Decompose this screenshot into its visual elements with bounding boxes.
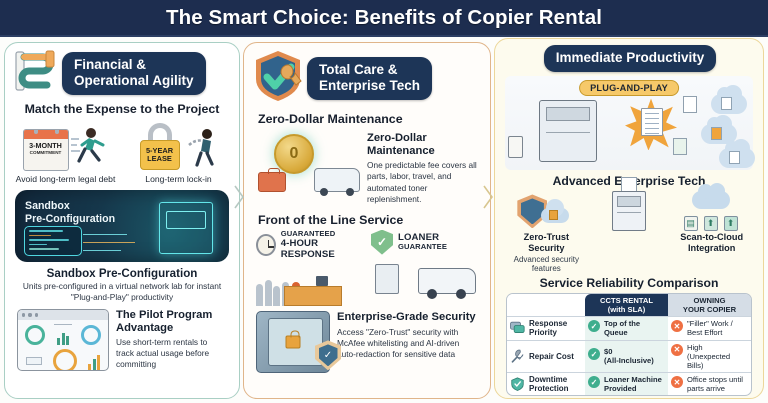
cross-icon: ✕ <box>671 376 683 388</box>
adv-sub-zero-trust: Advanced security features <box>505 255 588 274</box>
front-of-line-subhead: Front of the Line Service <box>250 213 484 227</box>
table-row: Downtime Protection ✓ Loaner Machine <box>507 372 751 395</box>
rental-sub-1: (All-Inclusive) <box>604 356 654 365</box>
mini-doc-icon <box>683 96 697 113</box>
lock-badge-line2: LEASE <box>147 155 172 163</box>
rental-sub-2: Provided <box>604 384 662 393</box>
enterprise-security-text: Enterprise-Grade Security Access "Zero-T… <box>337 311 478 359</box>
connector-arrow-1 <box>234 185 245 209</box>
running-person-icon <box>69 125 109 171</box>
code-window-icon <box>24 226 82 256</box>
delivery-truck-copier-icon <box>371 255 478 299</box>
sandbox-body: Units pre-configured in a virtual networ… <box>11 281 233 303</box>
printed-document-icon <box>641 108 663 136</box>
row-label-line1-1: Repair Cost <box>529 352 574 361</box>
enterprise-security-body: Access "Zero-Trust" security with McAfee… <box>337 327 478 360</box>
plug-and-play-scene: PLUG-AND-PLAY <box>505 76 753 170</box>
immediate-productivity-pill-row: Immediate Productivity <box>503 45 757 72</box>
comparison-title: Service Reliability Comparison <box>501 276 757 290</box>
flexible-scroll-icon <box>13 49 59 98</box>
rental-text-0: Top of the Queue <box>604 319 665 337</box>
rental-cell-2: ✓ Loaner Machine Provided <box>585 372 668 395</box>
clock-icon <box>256 234 276 256</box>
sandbox-card-line1: Sandbox <box>25 200 70 212</box>
table-header-blank <box>507 294 585 317</box>
financial-pill-row: Financial & Operational Agility <box>13 49 233 98</box>
pilot-program-body: Use short-term rentals to track actual u… <box>116 337 227 370</box>
owning-cell-2: ✕ Office stops until parts arrive <box>668 372 751 395</box>
rental-cell-1: ✓ $0 (All-Inclusive) <box>585 340 668 372</box>
compare-item-5year: 5-YEAR LEASE Long-term lock-in <box>125 119 233 184</box>
front-of-line-item-loaner: ✓ LOANER GUARANTEE <box>371 230 478 307</box>
zero-dollar-block: 0 Zero-Dollar Maintenance One predictabl… <box>250 132 484 205</box>
safe-vault-shield-icon: ✓ <box>256 311 330 373</box>
total-care-pill-row: Total Care & Enterprise Tech <box>252 49 484 108</box>
table-header-owning-line2: YOUR COPIER <box>683 305 736 314</box>
table-row: Response Priority ✓ Top of the Queue <box>507 317 751 340</box>
expense-compare-row: 3-MONTH COMMITMENT Avoid long-term legal… <box>11 119 233 184</box>
zero-dollar-subhead: Zero-Dollar Maintenance <box>250 112 484 126</box>
sandbox-card-title: Sandbox Pre-Configuration <box>25 200 115 226</box>
service-reliability-table: CCTS RENTAL (with SLA) OWNING YOUR COPIE… <box>506 293 752 396</box>
check-icon: ✓ <box>588 320 600 332</box>
shield-check-wrench-icon <box>252 49 304 108</box>
total-care-pill-line1: Total Care & <box>319 62 398 77</box>
copier-icon <box>539 100 597 162</box>
zero-dollar-title: Zero-Dollar Maintenance <box>367 132 478 158</box>
table-header-rental-line1: CCTS RENTAL <box>600 296 653 305</box>
cloud-doc-icon-1 <box>711 94 747 114</box>
sandbox-preconfig-card: Sandbox Pre-Configuration <box>15 190 229 262</box>
connector-arrow-2 <box>483 185 494 209</box>
row-label-response-priority: Response Priority <box>507 317 585 340</box>
table-header-rental: CCTS RENTAL (with SLA) <box>585 294 668 317</box>
page-title: The Smart Choice: Benefits of Copier Ren… <box>166 6 602 30</box>
table-row: Repair Cost ✓ $0 (A <box>507 340 751 372</box>
owning-text-1: High <box>687 343 703 352</box>
zero-dollar-body: One predictable fee covers all parts, la… <box>367 160 478 204</box>
enterprise-security-block: ✓ Enterprise-Grade Security Access "Zero… <box>250 311 484 373</box>
calendar-badge-line1: 3-MONTH <box>24 139 68 150</box>
owning-sub-0: Best Effort <box>687 328 722 337</box>
truck-icon <box>418 268 476 294</box>
service-desk-queue-icon <box>256 262 363 306</box>
padlock-chained-person-icon: 5-YEAR LEASE <box>125 119 233 171</box>
row-label-line2-0: Priority <box>529 328 557 337</box>
total-care-pill: Total Care & Enterprise Tech <box>307 57 432 101</box>
calendar-running-person-icon: 3-MONTH COMMITMENT <box>12 119 120 171</box>
pilot-program-title: The Pilot Program Advantage <box>116 309 227 335</box>
zero-dollar-text: Zero-Dollar Maintenance One predictable … <box>367 132 478 205</box>
mini-doc-icon-2 <box>673 138 687 155</box>
adv-item-scan-cloud: ▤ ⬆ ⬆ Scan-to-Cloud Integration <box>670 190 753 254</box>
table-header-row: CCTS RENTAL (with SLA) OWNING YOUR COPIE… <box>507 294 751 317</box>
shield-check-icon: ✓ <box>371 230 393 255</box>
service-van-icon <box>314 168 360 192</box>
mini-copier-icon <box>375 264 399 294</box>
loaner-label-small: GUARANTEE <box>398 242 447 251</box>
immediate-productivity-pill: Immediate Productivity <box>544 45 717 72</box>
cloud-doc-icon-3 <box>719 148 755 168</box>
match-expense-subhead: Match the Expense to the Project <box>11 102 233 116</box>
toolbox-icon <box>258 172 286 192</box>
owning-sub-2: parts arrive <box>687 384 725 393</box>
loaner-label: LOANER GUARANTEE <box>398 232 447 252</box>
gold-coin-toolbox-van-icon: 0 <box>256 132 360 194</box>
total-care-pill-line2: Enterprise Tech <box>319 78 420 93</box>
row-label-downtime-protection: Downtime Protection <box>507 372 585 395</box>
cross-icon: ✕ <box>671 320 683 332</box>
cross-icon: ✕ <box>671 344 683 356</box>
front-of-line-item-response: GUARANTEED 4-HOUR RESPONSE <box>256 230 363 307</box>
check-icon: ✓ <box>588 348 600 360</box>
owning-cell-1: ✕ High (Unexpected Bills) <box>668 340 751 372</box>
adv-title-zero-trust: Zero-Trust Security <box>505 232 588 253</box>
check-icon: ✓ <box>588 376 600 388</box>
shield-icon <box>510 377 525 391</box>
enterprise-security-title: Enterprise-Grade Security <box>337 311 478 324</box>
column-financial-agility: Financial & Operational Agility Match th… <box>4 42 240 399</box>
column-total-care: Total Care & Enterprise Tech Zero-Dollar… <box>243 42 491 399</box>
sandbox-title: Sandbox Pre-Configuration <box>11 267 233 280</box>
calendar-icon: 3-MONTH COMMITMENT <box>23 129 69 171</box>
financial-pill: Financial & Operational Agility <box>62 52 206 96</box>
compare-caption-3month: Avoid long-term legal debt <box>12 174 120 184</box>
power-outlet-icon <box>508 136 523 158</box>
row-label-line1-2: Downtime <box>529 375 567 384</box>
plug-and-play-badge: PLUG-AND-PLAY <box>579 80 679 96</box>
pilot-program-text: The Pilot Program Advantage Use short-te… <box>116 309 227 371</box>
financial-pill-line2: Operational Agility <box>74 73 194 88</box>
owning-sub-1: (Unexpected Bills) <box>687 352 730 370</box>
adv-title-scan-cloud: Scan-to-Cloud Integration <box>670 232 753 253</box>
owning-text-2: Office stops until <box>687 375 743 384</box>
title-banner: The Smart Choice: Benefits of Copier Ren… <box>0 0 768 37</box>
dashboard-window-icon <box>17 309 109 371</box>
cloud-lock-icon <box>541 208 569 223</box>
owning-cell-0: ✕ "Filler" Work / Best Effort <box>668 317 751 340</box>
pilot-program-block: The Pilot Program Advantage Use short-te… <box>11 309 233 371</box>
response-label-big: 4-HOUR RESPONSE <box>281 238 363 260</box>
table-header-rental-line2: (with SLA) <box>608 305 646 314</box>
columns-container: Financial & Operational Agility Match th… <box>0 37 768 403</box>
table-header-owning: OWNING YOUR COPIER <box>668 294 751 317</box>
front-of-line-row: GUARANTEED 4-HOUR RESPONSE ✓ <box>250 230 484 307</box>
copier-printing-icon <box>588 190 671 232</box>
infographic-poster: The Smart Choice: Benefits of Copier Ren… <box>0 0 768 403</box>
rental-text-2: Loaner Machine <box>604 375 662 384</box>
response-label-small: GUARANTEED <box>281 229 336 238</box>
financial-pill-line1: Financial & <box>74 57 146 72</box>
wrench-icon <box>510 349 525 363</box>
shield-cloud-lock-icon <box>505 190 588 232</box>
advanced-enterprise-tech-row: Zero-Trust Security Advanced security fe… <box>501 190 757 274</box>
column-immediate-productivity: Immediate Productivity PLUG-AND-PLAY Adv… <box>494 38 764 399</box>
sandbox-card-line2: Pre-Configuration <box>25 213 115 225</box>
adv-item-zero-trust: Zero-Trust Security Advanced security fe… <box>505 190 588 274</box>
owning-text-0: "Filler" Work / <box>687 319 733 328</box>
rental-cell-0: ✓ Top of the Queue <box>585 317 668 340</box>
chat-response-icon <box>510 321 525 335</box>
row-label-line1-0: Response <box>529 319 567 328</box>
compare-caption-5year: Long-term lock-in <box>125 174 233 184</box>
holographic-copier-icon <box>159 202 213 254</box>
row-label-line2-2: Protection <box>529 384 569 393</box>
burdened-person-icon <box>185 125 223 171</box>
calendar-badge-line2: COMMITMENT <box>24 150 68 155</box>
compare-item-3month: 3-MONTH COMMITMENT Avoid long-term legal… <box>12 119 120 184</box>
zero-coin-icon: 0 <box>274 134 314 174</box>
cloud-upload-icon: ▤ ⬆ ⬆ <box>670 190 753 232</box>
response-label: GUARANTEED 4-HOUR RESPONSE <box>281 230 363 261</box>
padlock-icon: 5-YEAR LEASE <box>135 123 185 171</box>
adv-item-copier <box>588 190 671 233</box>
row-label-repair-cost: Repair Cost <box>507 340 585 372</box>
table-header-owning-line1: OWNING <box>693 296 725 305</box>
rental-text-1: $0 <box>604 347 654 356</box>
